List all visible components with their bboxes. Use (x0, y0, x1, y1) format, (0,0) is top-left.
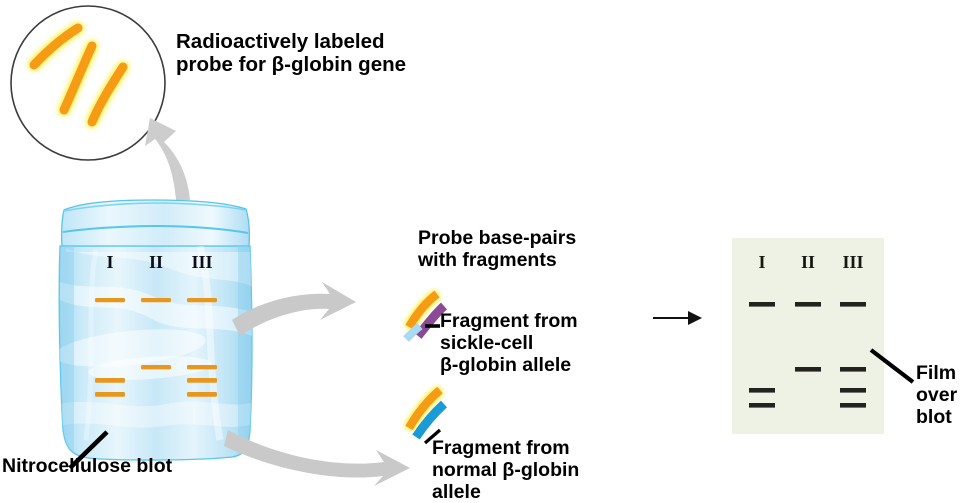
blot-band (187, 378, 217, 383)
probe-basepairs-label: Probe base-pairswith fragments (418, 228, 576, 272)
film-band (749, 388, 775, 393)
arrow-blot-to-normal-fragment (224, 430, 410, 486)
nitrocellulose-blot (53, 200, 254, 468)
fragment-normal (409, 390, 444, 443)
film-over-blot-label: Filmoverblot (916, 363, 957, 428)
blot-band (187, 365, 217, 369)
blot-band (187, 298, 217, 302)
blot-band (95, 378, 125, 383)
blot-band (95, 298, 125, 302)
circle-outline-icon (11, 6, 165, 160)
nitrocellulose-blot-label: Nitrocellulose blot (2, 456, 172, 478)
figure-canvas: Radioactively labeledprobe for β-globin … (0, 0, 964, 484)
fragment-normal-label: Fragment fromnormal β-globinallele (432, 438, 579, 503)
film-lane-label-II: II (792, 252, 824, 273)
fragment-sickle-cell (406, 294, 444, 339)
film-band (749, 403, 775, 408)
probe-circle (11, 6, 165, 160)
blot-band (141, 298, 171, 302)
blot-band (187, 392, 217, 397)
arrow-head (688, 311, 702, 325)
arrow-to-probe-circle (145, 118, 190, 200)
film-band (840, 403, 866, 408)
film-band (795, 302, 821, 307)
film-band (840, 388, 866, 393)
film-band (840, 367, 866, 372)
blot-lane-label-II: II (140, 252, 172, 273)
blot-lane-label-I: I (94, 252, 126, 273)
film-lane-label-III: III (837, 252, 869, 273)
film-band (795, 367, 821, 372)
film-lane-label-I: I (746, 252, 778, 273)
blot-lane-label-III: III (186, 252, 218, 273)
arrow-to-film (653, 311, 702, 325)
fragment-sickle-label: Fragment fromsickle-cellβ-globin allele (440, 311, 578, 376)
probe-circle-label: Radioactively labeledprobe for β-globin … (176, 31, 406, 77)
film-band (749, 302, 775, 307)
blot-band (95, 392, 125, 397)
film-band (840, 302, 866, 307)
fragment-tail-lightblue (406, 326, 420, 339)
blot-band (141, 365, 171, 369)
